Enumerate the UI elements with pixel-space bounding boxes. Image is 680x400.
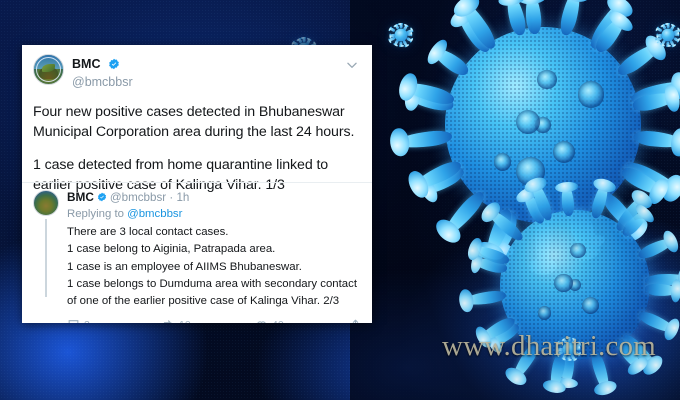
quoted-avatar-column (32, 190, 60, 297)
share-action[interactable] (349, 318, 362, 323)
tweet-paragraph: Four new positive cases detected in Bhub… (33, 102, 361, 142)
retweet-action[interactable]: 10 (161, 318, 255, 323)
reply-action[interactable]: 2 (67, 318, 161, 323)
retweet-icon (161, 318, 175, 323)
tweet-action-bar: 2 10 40 (67, 318, 362, 323)
tweet-card[interactable]: BMC @bmcbbsr (22, 45, 372, 323)
avatar[interactable] (33, 54, 64, 85)
avatar-ring (36, 57, 61, 82)
share-icon (349, 318, 362, 323)
like-action[interactable]: 40 (255, 318, 349, 323)
verified-badge-icon (97, 192, 107, 202)
author-name[interactable]: BMC (72, 57, 100, 71)
avatar[interactable] (33, 190, 59, 216)
quoted-tweet[interactable]: BMC@bmcbbsr · 1h Replying to @bmcbbsr Th… (22, 182, 372, 323)
author-block: BMC @bmcbbsr (72, 54, 133, 89)
author-handle: @bmcbbsr (72, 75, 133, 89)
verified-badge-icon (108, 57, 120, 69)
tweet-header: BMC @bmcbbsr (33, 54, 361, 89)
quoted-tweet-header: BMC@bmcbbsr · 1h Replying to @bmcbbsr Th… (32, 190, 362, 323)
quoted-text-line: 1 case is an employee of AIIMS Bhubanesw… (67, 259, 362, 276)
reply-count: 2 (84, 319, 90, 323)
quoted-timestamp[interactable]: 1h (176, 191, 189, 204)
replying-to-label: Replying to (67, 208, 127, 220)
replying-to-line: Replying to @bmcbbsr (67, 208, 362, 220)
quoted-author-line: BMC@bmcbbsr · 1h (67, 190, 362, 205)
quoted-author-handle[interactable]: @bmcbbsr (110, 191, 166, 204)
watermark-text: www.dharitri.com (442, 330, 656, 363)
retweet-count: 10 (179, 319, 191, 323)
quoted-author-name[interactable]: BMC (67, 190, 94, 204)
screenshot-stage: www.dharitri.com BMC (0, 0, 680, 400)
quoted-tweet-text: There are 3 local contact cases. 1 case … (67, 224, 362, 311)
heart-icon (255, 318, 268, 323)
like-count: 40 (272, 319, 284, 323)
replying-to-handle[interactable]: @bmcbbsr (127, 208, 182, 220)
quoted-text-line: 1 case belongs to Dumduma area with seco… (67, 276, 362, 311)
quoted-text-line: 1 case belong to Aiginia, Patrapada area… (67, 241, 362, 258)
reply-icon (67, 318, 80, 323)
quoted-separator: · (169, 191, 173, 204)
chevron-down-icon[interactable] (345, 58, 359, 72)
quoted-text-line: There are 3 local contact cases. (67, 224, 362, 241)
thread-connector-line (45, 219, 47, 297)
